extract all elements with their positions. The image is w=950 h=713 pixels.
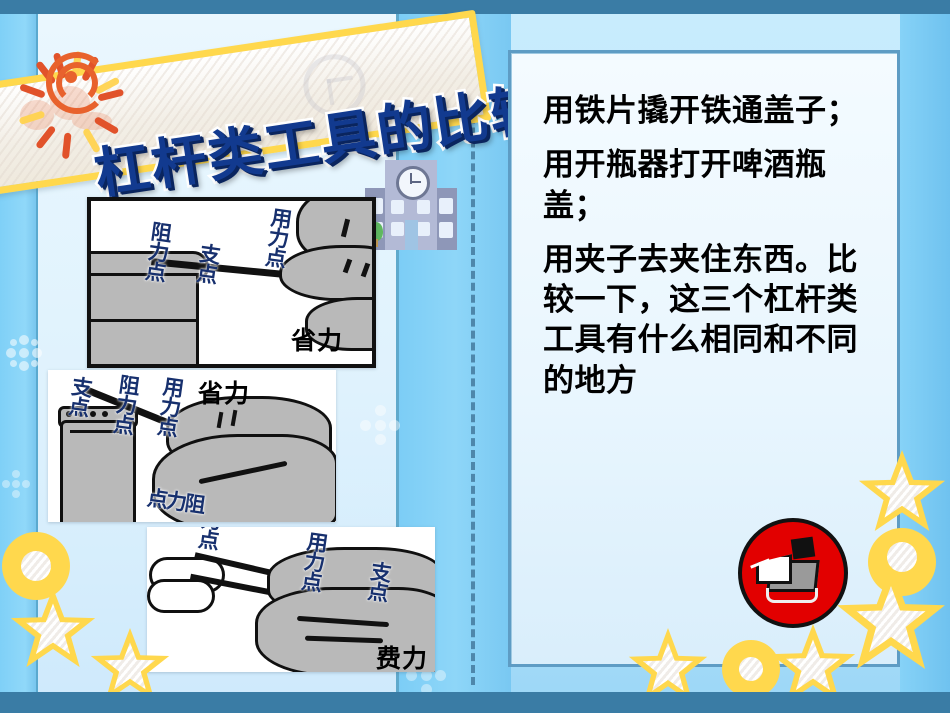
figure-1-caption: 省力 bbox=[291, 321, 343, 357]
slide-canvas: 杠杆类工具的比较 bbox=[0, 0, 950, 713]
label-fulcrum: 支点 bbox=[366, 560, 390, 602]
paragraph-3: 用夹子去夹住东西。比较一下，这三个杠杆类工具有什么相同和不同的地方 bbox=[543, 240, 877, 401]
cart-box-icon bbox=[791, 537, 816, 560]
figure-2-caption: 省力 bbox=[198, 374, 250, 410]
label-resistance-point: 阻力点 bbox=[112, 373, 139, 435]
label-effort-point: 用力点 bbox=[156, 375, 183, 437]
paragraph-2: 用开瓶器打开啤酒瓶盖； bbox=[543, 145, 877, 226]
figure-2: 支点 阻力点 用力点 阻力点 省力 bbox=[48, 370, 336, 522]
figure-3-caption: 费力 bbox=[376, 639, 428, 672]
cart-wheels-icon bbox=[766, 588, 818, 603]
paragraph-1: 用铁片撬开铁通盖子； bbox=[543, 91, 877, 131]
shopping-cart-badge-icon bbox=[738, 518, 848, 628]
ring-icon bbox=[2, 532, 70, 600]
figure-1: 阻力点 支点 用力点 省力 bbox=[87, 197, 376, 368]
ring-icon bbox=[868, 528, 936, 596]
sun-icon bbox=[16, 22, 126, 132]
clock-icon bbox=[396, 166, 430, 200]
ring-icon bbox=[722, 640, 780, 698]
label-fulcrum: 支点 bbox=[67, 375, 91, 417]
label-fulcrum: 支点 bbox=[195, 242, 219, 284]
label-effort-point: 用力点 bbox=[300, 530, 327, 592]
bottom-strip bbox=[0, 692, 950, 713]
figure-3: 阻力点 用力点 支点 费力 bbox=[147, 527, 435, 672]
label-resistance-point: 阻力点 bbox=[197, 527, 224, 550]
label-effort-point: 用力点 bbox=[264, 206, 291, 268]
label-resistance-point: 阻力点 bbox=[144, 220, 171, 282]
right-text-body: 用铁片撬开铁通盖子； 用开瓶器打开啤酒瓶盖； 用夹子去夹住东西。比较一下，这三个… bbox=[543, 91, 877, 415]
cart-front-icon bbox=[756, 554, 792, 584]
